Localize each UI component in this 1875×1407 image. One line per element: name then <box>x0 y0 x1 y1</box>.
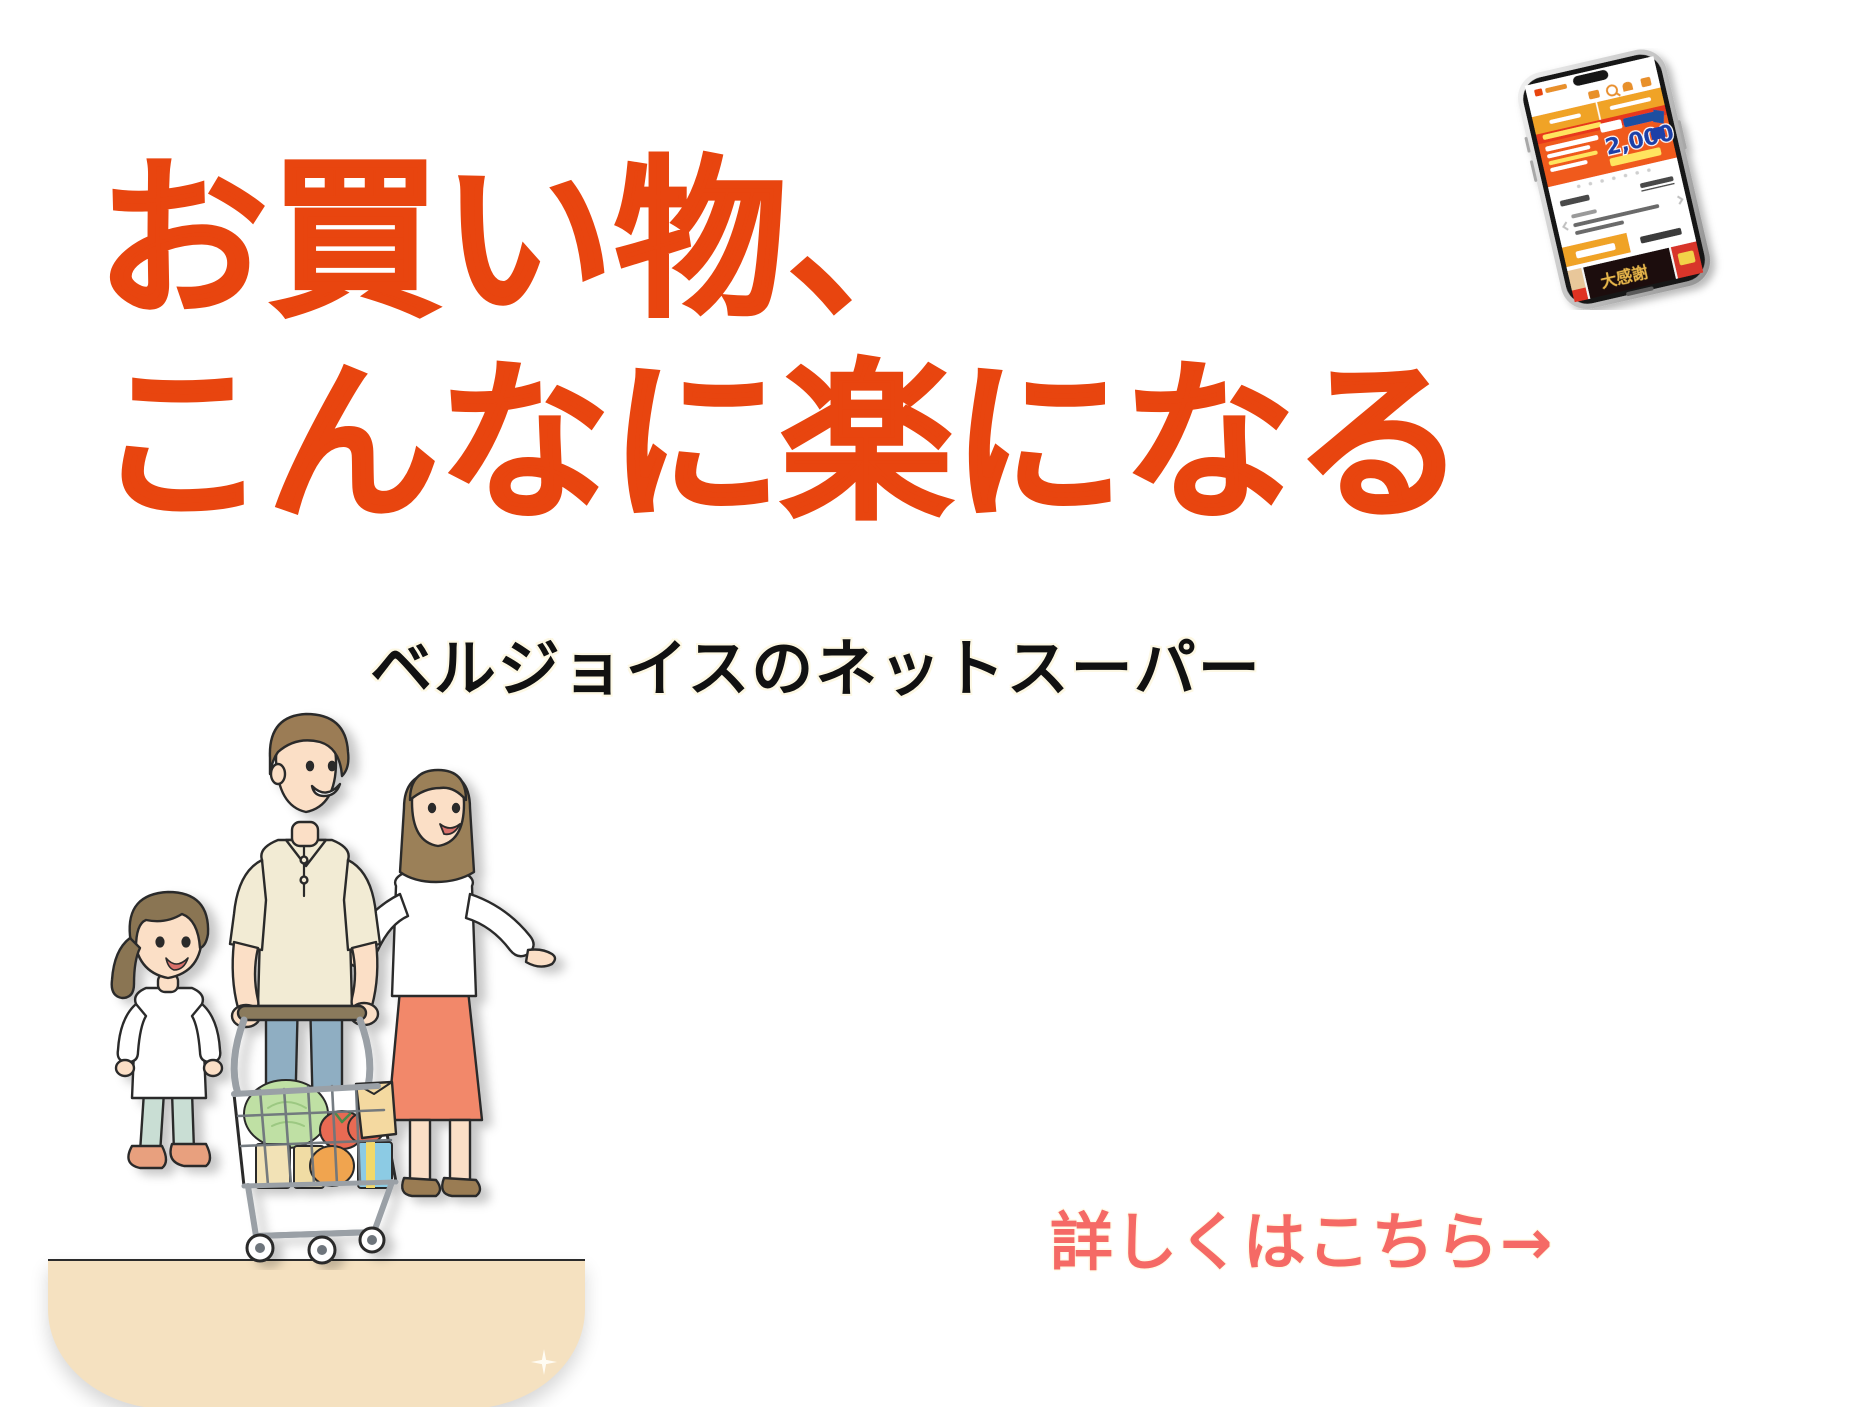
promo-banner: お買い物、 こんなに楽になる ベルジョイスのネットスーパー 詳しくはこちら→ <box>0 0 1875 1407</box>
headline-line-2: こんなに楽になる <box>96 343 1596 546</box>
headline-line-1: お買い物、 <box>96 140 1596 343</box>
figure-child <box>112 892 222 1168</box>
sparkle-icon <box>531 1349 557 1375</box>
family-shopping-illustration <box>110 690 590 1270</box>
smartphone-mockup: 2,000 2,000 <box>1492 48 1738 310</box>
details-cta-link[interactable]: 詳しくはこちら→ <box>1050 1192 1554 1283</box>
page-title: お買い物、 こんなに楽になる <box>96 140 1596 546</box>
ground-platform <box>48 1259 585 1407</box>
